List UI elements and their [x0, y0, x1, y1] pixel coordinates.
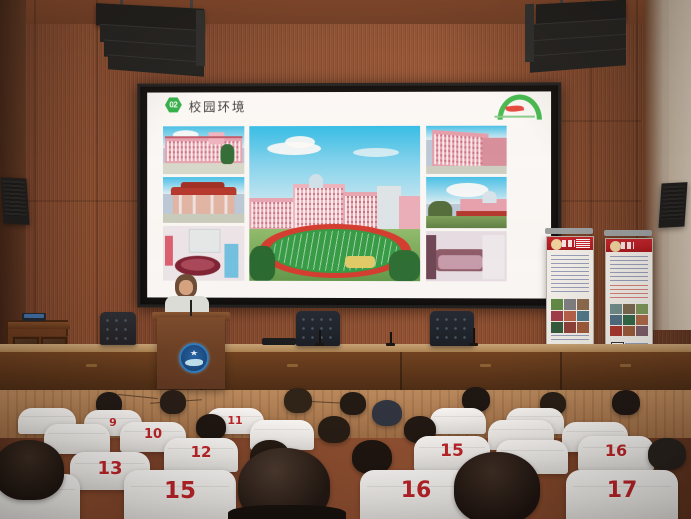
slide-section-badge: 02	[165, 97, 182, 112]
audience-head	[284, 388, 312, 413]
audience-head	[160, 390, 186, 414]
wall-speaker-left	[0, 177, 29, 225]
laptop-screen-glow	[24, 314, 44, 318]
slide-title: 校园环境	[189, 96, 247, 115]
audience-head-cap	[372, 400, 402, 426]
seat-number: 15	[124, 478, 236, 504]
school-logo-icon	[493, 94, 537, 118]
audience-head	[648, 438, 686, 470]
audience-seat: 15	[124, 470, 236, 519]
right-corner-wall	[669, 0, 691, 330]
audience-head	[352, 440, 392, 474]
seat-number: 12	[164, 443, 238, 461]
podium-microphone	[190, 300, 192, 316]
auditorium-scene: 02 校园环境	[0, 0, 691, 519]
audience-seat: 17	[566, 470, 678, 519]
photo-right-1	[426, 126, 506, 174]
photo-right-2	[426, 177, 506, 228]
stage-chair-3	[100, 312, 136, 345]
stage-chair-1	[296, 311, 340, 346]
audience-head	[196, 414, 226, 440]
audience-seat: 16	[578, 436, 654, 471]
audience-head	[612, 390, 640, 415]
photo-left-3	[163, 226, 244, 281]
wall-speaker-right	[658, 182, 687, 228]
slide-header: 02 校园环境	[147, 91, 551, 118]
seat-number: 17	[566, 478, 678, 503]
photo-left-2	[163, 177, 244, 223]
school-crest-icon	[179, 343, 209, 373]
photo-left-1	[163, 126, 244, 174]
slide-content: 02 校园环境	[147, 91, 551, 298]
stage-chair-2	[430, 311, 474, 346]
banner-top-rail-right	[604, 230, 652, 236]
banner-top-rail-left	[545, 228, 593, 234]
audience-head-foreground	[0, 440, 64, 500]
audience-shoulders	[228, 505, 346, 519]
podium	[157, 317, 225, 389]
audience-head	[340, 392, 366, 415]
stage-table-front	[0, 352, 691, 390]
photo-center-stadium	[249, 126, 420, 281]
audience-seat: 12	[164, 438, 238, 472]
laptop-on-table[interactable]	[262, 338, 296, 345]
audience-seat	[430, 408, 486, 434]
seat-number: 16	[578, 441, 654, 460]
audience-head	[318, 416, 350, 443]
photo-right-3	[426, 231, 506, 281]
presenter-face	[179, 280, 193, 295]
audience-head-foreground	[454, 452, 540, 519]
